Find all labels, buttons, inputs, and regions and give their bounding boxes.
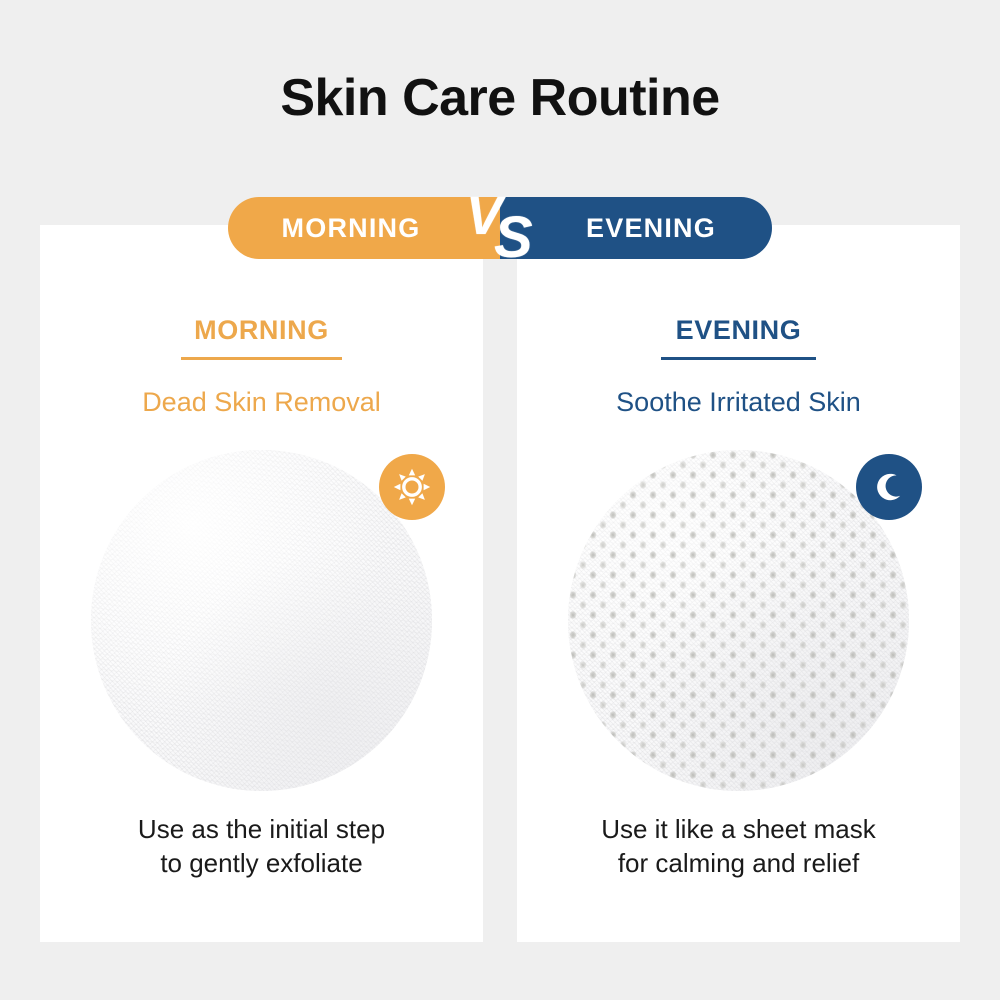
evening-pad-figure bbox=[568, 450, 909, 791]
pill-morning-label: MORNING bbox=[282, 213, 421, 244]
morning-product-pad bbox=[91, 450, 432, 791]
morning-vs-evening-badge: MORNING EVENING V S bbox=[228, 197, 772, 259]
evening-caption-line-1: Use it like a sheet mask bbox=[517, 812, 960, 846]
evening-subtitle: Soothe Irritated Skin bbox=[517, 387, 960, 418]
pill-morning-half[interactable]: MORNING bbox=[228, 197, 500, 259]
pill-evening-half[interactable]: EVENING bbox=[500, 197, 772, 259]
evening-product-pad bbox=[568, 450, 909, 791]
morning-caption: Use as the initial step to gently exfoli… bbox=[40, 812, 483, 881]
evening-caption: Use it like a sheet mask for calming and… bbox=[517, 812, 960, 881]
evening-column: EVENING Soothe Irritated Skin Use it lik… bbox=[517, 225, 960, 942]
evening-kicker: EVENING bbox=[517, 315, 960, 346]
evening-kicker-underline bbox=[661, 357, 816, 360]
morning-pad-figure bbox=[91, 450, 432, 791]
morning-kicker: MORNING bbox=[40, 315, 483, 346]
morning-column: MORNING Dead Skin Removal Use as the bbox=[40, 225, 483, 942]
pad-shading bbox=[568, 450, 909, 791]
sun-icon bbox=[379, 454, 445, 520]
morning-subtitle: Dead Skin Removal bbox=[40, 387, 483, 418]
pill-evening-label: EVENING bbox=[586, 213, 716, 244]
evening-caption-line-2: for calming and relief bbox=[517, 846, 960, 880]
morning-caption-line-1: Use as the initial step bbox=[40, 812, 483, 846]
morning-caption-line-2: to gently exfoliate bbox=[40, 846, 483, 880]
moon-icon bbox=[856, 454, 922, 520]
page-title: Skin Care Routine bbox=[0, 68, 1000, 128]
morning-kicker-underline bbox=[181, 357, 342, 360]
